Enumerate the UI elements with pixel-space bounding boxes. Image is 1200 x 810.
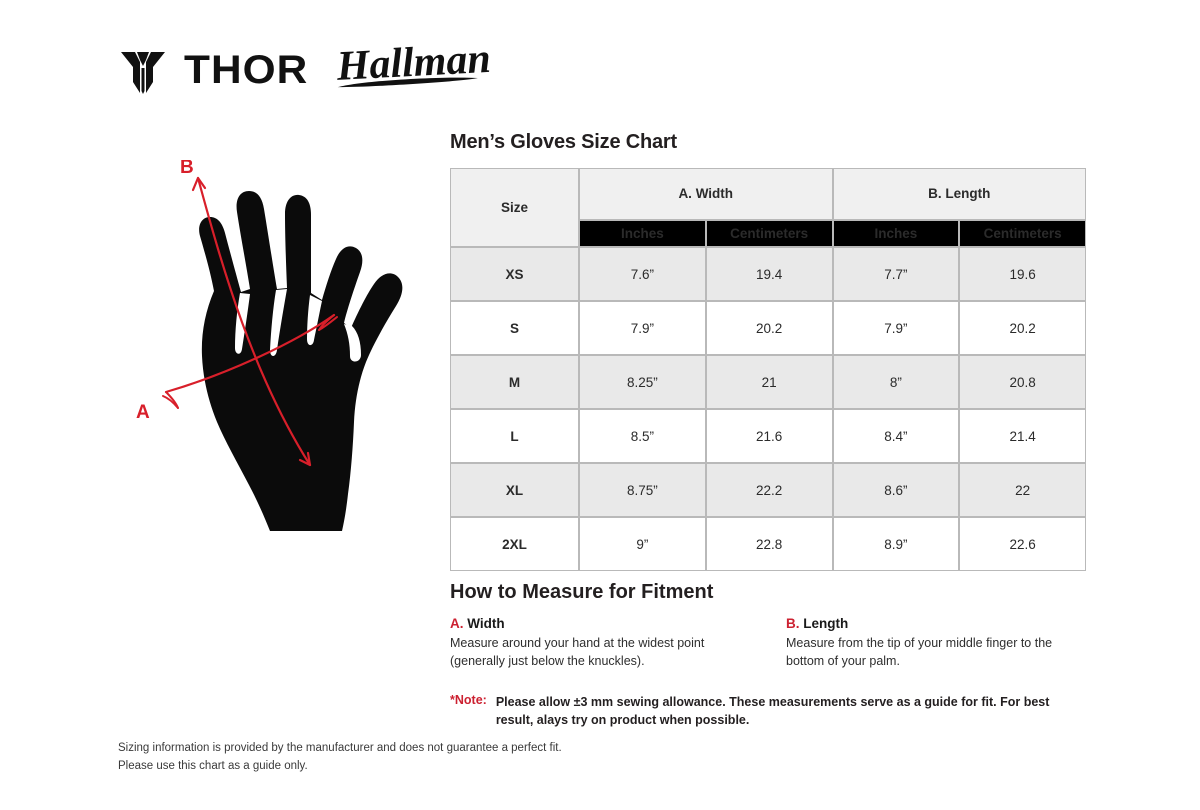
footer-line-2: Please use this chart as a guide only. [118,758,562,776]
cell-length-cm: 20.2 [959,301,1086,355]
howto-title: How to Measure for Fitment [450,581,713,604]
cell-length-in: 8.9” [833,517,960,571]
cell-width-in: 7.6” [579,247,706,301]
cell-width-cm: 19.4 [706,247,833,301]
cell-length-in: 8” [833,355,960,409]
table-row: XL 8.75” 22.2 8.6” 22 [450,463,1086,517]
table-row: S 7.9” 20.2 7.9” 20.2 [450,301,1086,355]
cell-length-in: 7.7” [833,247,960,301]
cell-width-in: 7.9” [579,301,706,355]
measure-width-heading: A. Width [450,616,750,631]
table-row: 2XL 9” 22.8 8.9” 22.6 [450,517,1086,571]
thor-wordmark: THOR [184,50,308,90]
label-b: B [180,160,194,178]
thor-logo-lockup: THOR [118,45,301,95]
measure-width-block: A. Width Measure around your hand at the… [450,616,750,671]
note-label: *Note: [450,693,487,707]
glove-measurement-diagram: B A [118,160,428,550]
header-length-centimeters: Centimeters [959,220,1086,247]
cell-size: M [450,355,579,409]
header-length-inches: Inches [833,220,960,247]
brand-header: THOR Hallman [118,40,497,100]
cell-width-in: 8.25” [579,355,706,409]
cell-length-cm: 22 [959,463,1086,517]
cell-width-in: 9” [579,517,706,571]
cell-width-cm: 21.6 [706,409,833,463]
size-chart-table: Size A. Width B. Length Inches Centimete… [450,168,1086,571]
label-a: A [136,402,150,423]
cell-length-in: 8.6” [833,463,960,517]
header-width-centimeters: Centimeters [706,220,833,247]
measure-width-letter: A. [450,616,464,631]
cell-size: L [450,409,579,463]
cell-length-in: 8.4” [833,409,960,463]
measure-width-name: Width [467,616,504,631]
table-row: M 8.25” 21 8” 20.8 [450,355,1086,409]
measure-length-text: Measure from the tip of your middle fing… [786,635,1086,671]
cell-width-cm: 21 [706,355,833,409]
measure-length-block: B. Length Measure from the tip of your m… [786,616,1086,671]
cell-size: S [450,301,579,355]
cell-width-cm: 22.8 [706,517,833,571]
header-group-width: A. Width [579,168,833,220]
measure-length-letter: B. [786,616,800,631]
table-row: L 8.5” 21.6 8.4” 21.4 [450,409,1086,463]
measure-length-heading: B. Length [786,616,1086,631]
glove-diagram-svg: B A [118,160,428,550]
cell-width-cm: 20.2 [706,301,833,355]
cell-width-in: 8.75” [579,463,706,517]
table-row: XS 7.6” 19.4 7.7” 19.6 [450,247,1086,301]
cell-length-cm: 22.6 [959,517,1086,571]
header-group-length: B. Length [833,168,1087,220]
cell-width-cm: 22.2 [706,463,833,517]
cell-size: XL [450,463,579,517]
header-size: Size [450,168,579,247]
measure-width-text: Measure around your hand at the widest p… [450,635,750,671]
cell-length-cm: 20.8 [959,355,1086,409]
note-row: *Note: Please allow ±3 mm sewing allowan… [450,693,1086,730]
header-width-inches: Inches [579,220,706,247]
cell-length-cm: 19.6 [959,247,1086,301]
page-title: Men’s Gloves Size Chart [450,131,677,154]
footer-disclaimer: Sizing information is provided by the ma… [118,740,562,776]
hallman-wordmark: Hallman [334,38,498,94]
cell-size: 2XL [450,517,579,571]
cell-length-cm: 21.4 [959,409,1086,463]
cell-size: XS [450,247,579,301]
note-text: Please allow ±3 mm sewing allowance. The… [496,693,1086,730]
cell-length-in: 7.9” [833,301,960,355]
glove-hand-silhouette [199,191,402,531]
thor-emblem-icon [118,45,168,95]
table-header-row-groups: Size A. Width B. Length [450,168,1086,220]
measure-length-name: Length [803,616,848,631]
cell-width-in: 8.5” [579,409,706,463]
footer-line-1: Sizing information is provided by the ma… [118,740,562,758]
